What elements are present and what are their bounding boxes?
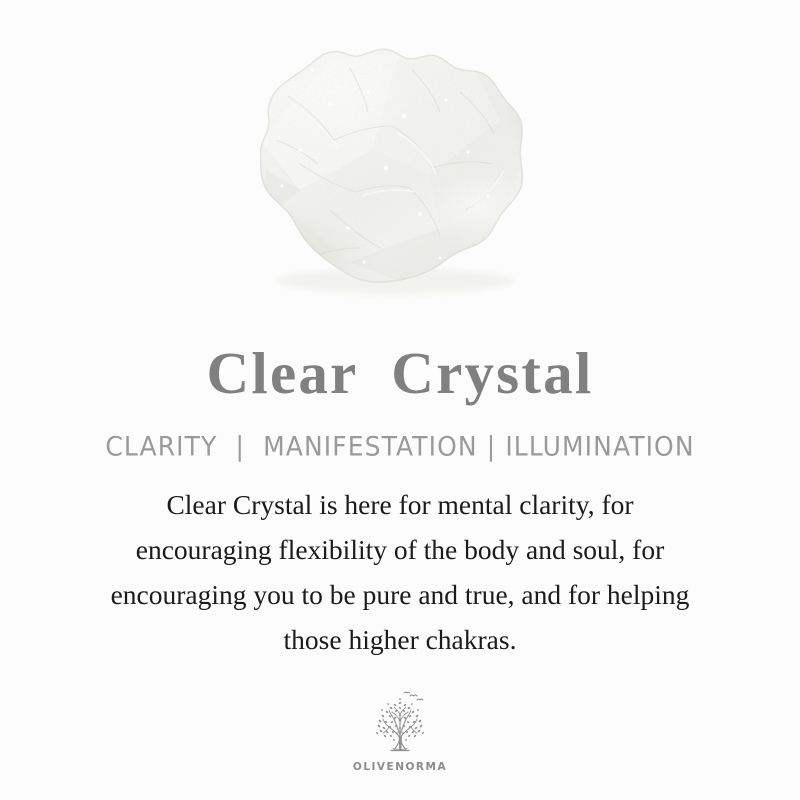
- keyword-line: CLARITY | MANIFESTATION | ILLUMINATION: [105, 433, 694, 460]
- product-card: Clear Crystal CLARITY | MANIFESTATION | …: [0, 0, 800, 800]
- description: Clear Crystal is here for mental clarity…: [30, 482, 770, 662]
- brand-logo: OLIVENORMA: [340, 688, 460, 773]
- description-line: encouraging flexibility of the body and …: [30, 527, 770, 572]
- crystal-body: [234, 40, 559, 298]
- birds-icon: [404, 692, 423, 700]
- description-line: encouraging you to be pure and true, and…: [30, 572, 770, 617]
- page-title: Clear Crystal: [207, 344, 594, 403]
- description-line: Clear Crystal is here for mental clarity…: [30, 482, 770, 527]
- olive-tree-icon: [364, 688, 436, 760]
- crystal-image: [0, 0, 800, 318]
- brand-wordmark: OLIVENORMA: [353, 762, 447, 773]
- description-line: those higher chakras.: [30, 617, 770, 662]
